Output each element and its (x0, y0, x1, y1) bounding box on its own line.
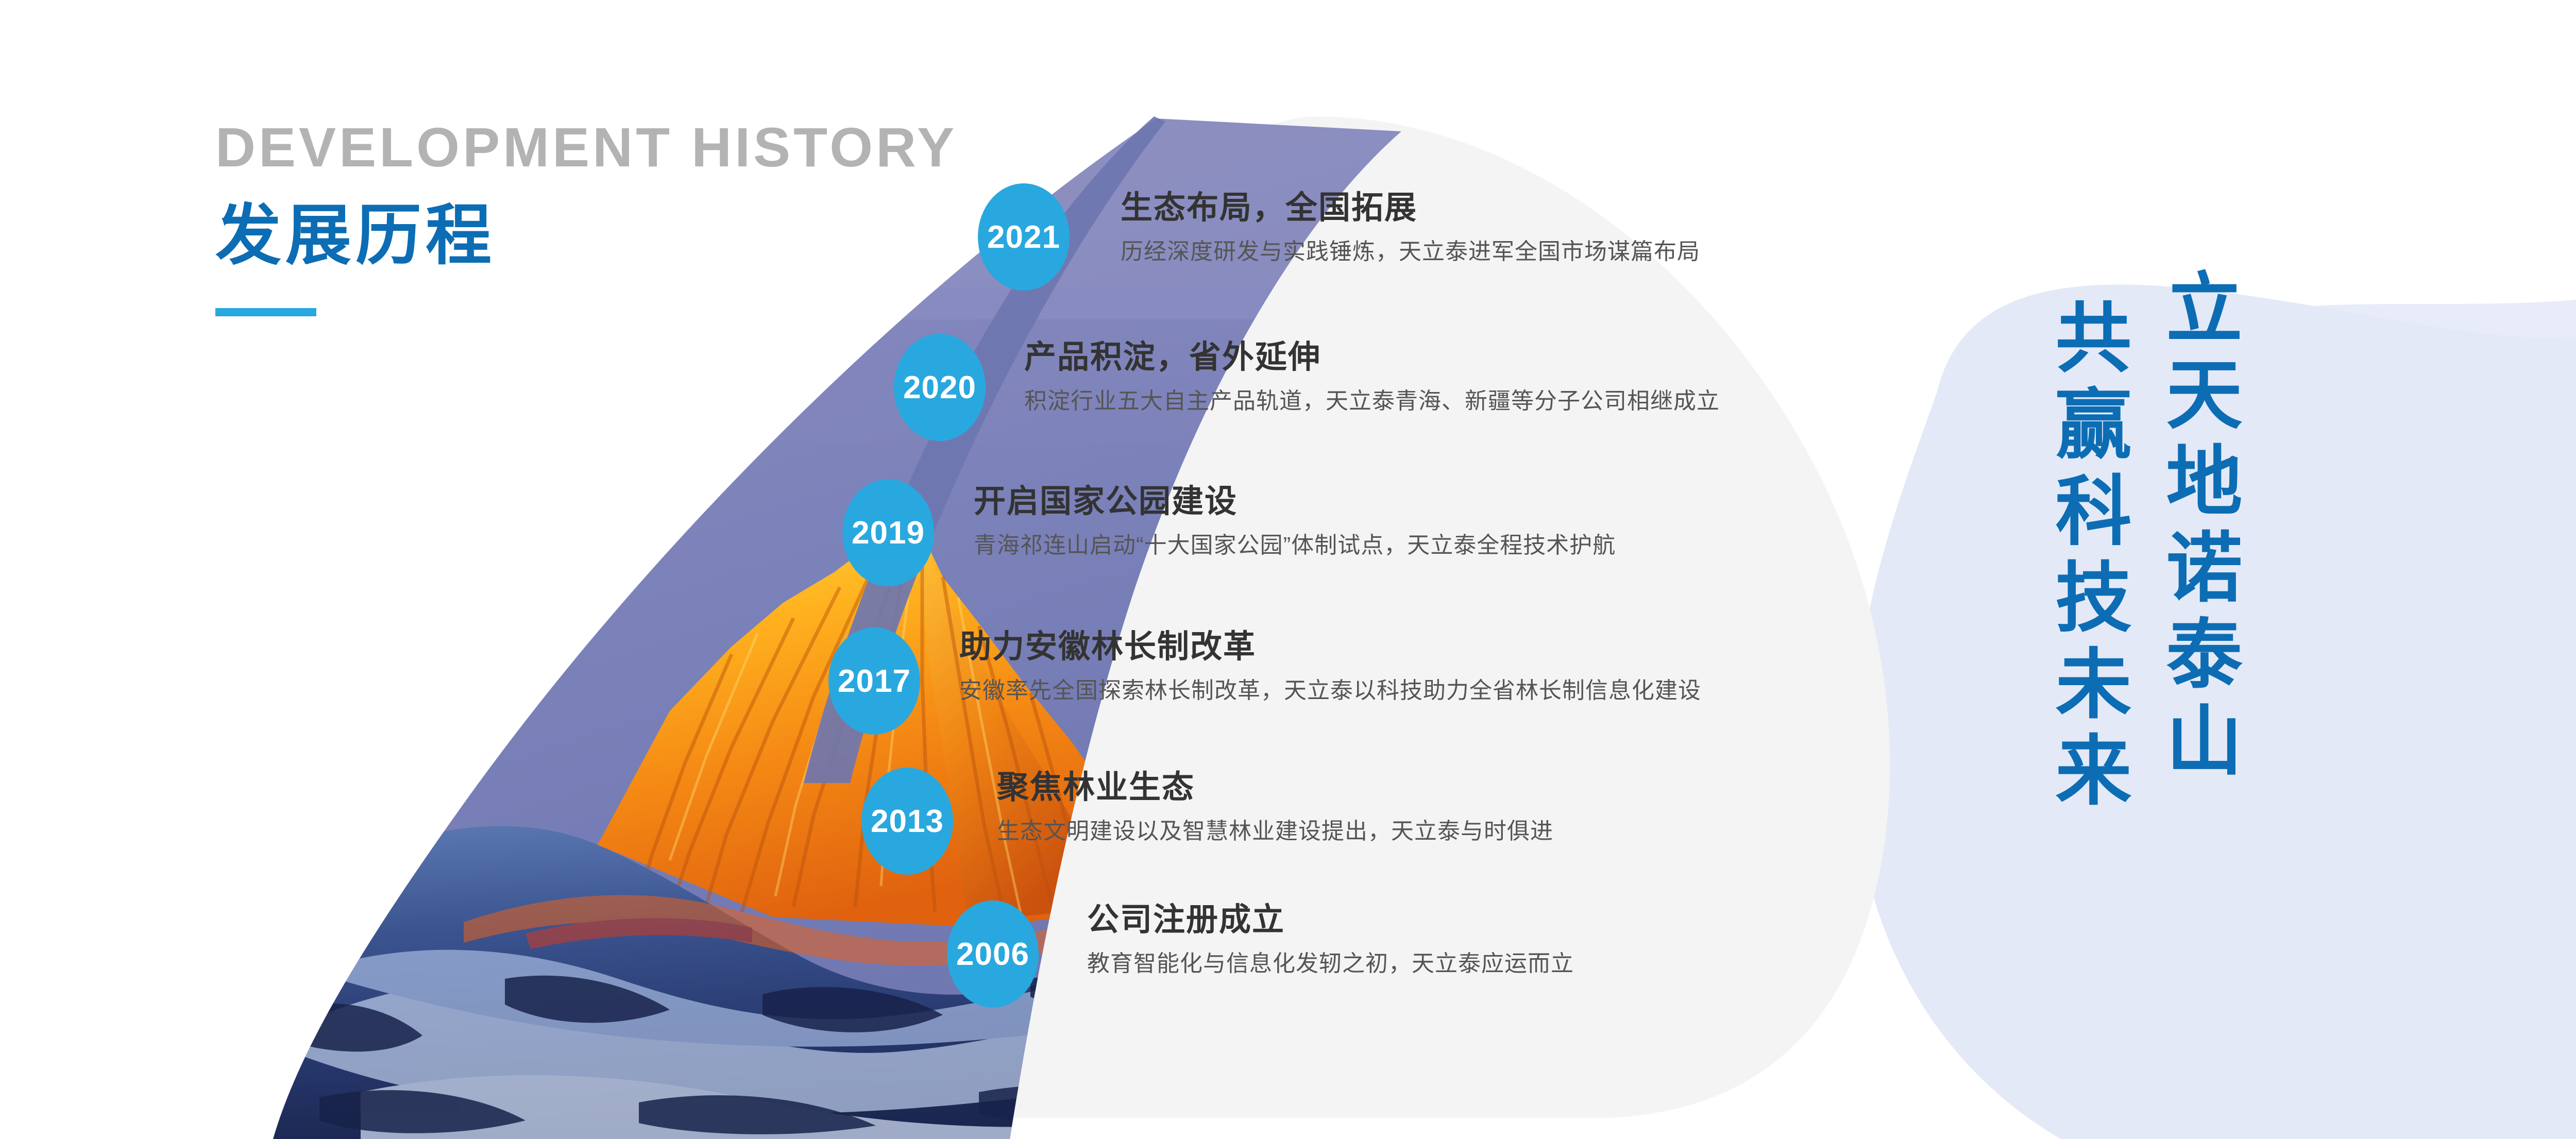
timeline-year-badge[interactable]: 2006 (947, 900, 1039, 1008)
timeline-item-description: 青海祁连山启动“十大国家公园”体制试点，天立泰全程技术护航 (974, 533, 1616, 559)
slogan-line-right: 立天地诺泰山 (2159, 268, 2235, 787)
timeline-year-badge[interactable]: 2021 (978, 183, 1070, 291)
timeline-item-title: 产品积淀，省外延伸 (1024, 340, 1720, 375)
timeline-item-title: 公司注册成立 (1087, 903, 1574, 938)
timeline-year-badge[interactable]: 2019 (842, 479, 934, 586)
timeline-year-badge[interactable]: 2020 (894, 334, 986, 441)
timeline-item-title: 生态布局，全国拓展 (1121, 191, 1700, 226)
timeline-item-description: 积淀行业五大自主产品轨道，天立泰青海、新疆等分子公司相继成立 (1024, 388, 1720, 415)
timeline-item-description: 安徽率先全国探索林长制改革，天立泰以科技助力全省林长制信息化建设 (959, 678, 1701, 704)
timeline-content: 开启国家公园建设 青海祁连山启动“十大国家公园”体制试点，天立泰全程技术护航 (974, 484, 1616, 559)
timeline-content: 产品积淀，省外延伸 积淀行业五大自主产品轨道，天立泰青海、新疆等分子公司相继成立 (1024, 340, 1720, 415)
timeline-content: 公司注册成立 教育智能化与信息化发轫之初，天立泰应运而立 (1087, 903, 1574, 977)
timeline-content: 生态布局，全国拓展 历经深度研发与实践锤炼，天立泰进军全国市场谋篇布局 (1121, 191, 1700, 265)
timeline-item-description: 生态文明建设以及智慧林业建设提出，天立泰与时俱进 (997, 819, 1553, 845)
timeline-item-description: 历经深度研发与实践锤炼，天立泰进军全国市场谋篇布局 (1121, 239, 1700, 265)
timeline-year-badge[interactable]: 2013 (861, 768, 953, 875)
timeline-content: 聚焦林业生态 生态文明建设以及智慧林业建设提出，天立泰与时俱进 (997, 770, 1553, 845)
timeline-year-badge[interactable]: 2017 (828, 627, 920, 735)
timeline-item-title: 助力安徽林长制改革 (959, 630, 1701, 665)
timeline-item-title: 开启国家公园建设 (974, 484, 1616, 519)
timeline-item-title: 聚焦林业生态 (997, 770, 1553, 805)
slogan-line-left: 共赢科技未来 (2048, 298, 2124, 817)
timeline-item-description: 教育智能化与信息化发轫之初，天立泰应运而立 (1087, 951, 1574, 977)
timeline-content: 助力安徽林长制改革 安徽率先全国探索林长制改革，天立泰以科技助力全省林长制信息化… (959, 630, 1701, 704)
